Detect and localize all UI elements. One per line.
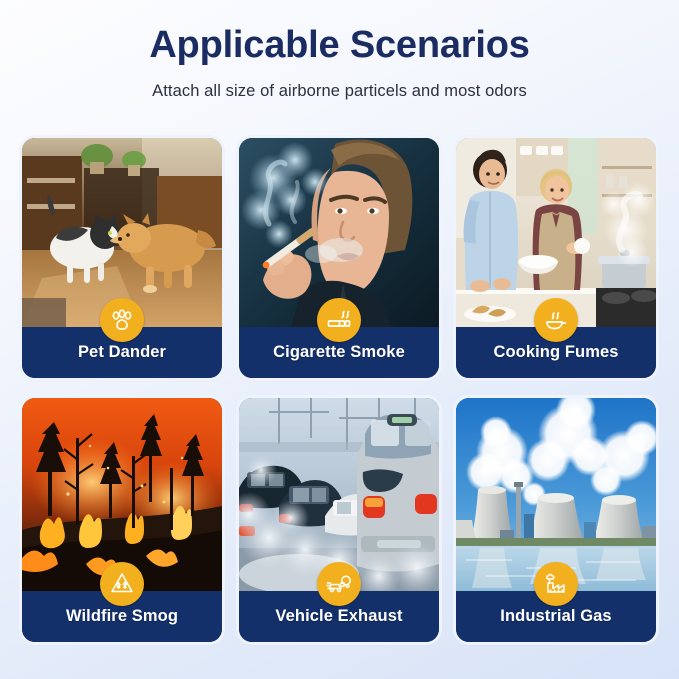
page-subtitle: Attach all size of airborne particels an… bbox=[0, 82, 679, 101]
steaming-pan-icon bbox=[534, 298, 578, 342]
scenario-card-cigarette-smoke[interactable]: Cigarette Smoke bbox=[239, 138, 439, 378]
burning-forest-icon bbox=[100, 562, 144, 606]
scenario-card-industrial-gas[interactable]: Industrial Gas bbox=[456, 398, 656, 642]
scenario-card-pet-dander[interactable]: Pet Dander bbox=[22, 138, 222, 378]
page-title: Applicable Scenarios bbox=[0, 24, 679, 68]
paw-print-icon bbox=[100, 298, 144, 342]
cigarette-icon bbox=[317, 298, 361, 342]
scenario-card-vehicle-exhaust[interactable]: Vehicle Exhaust bbox=[239, 398, 439, 642]
scenario-card-grid: Pet Dander bbox=[22, 138, 657, 642]
scenario-card-wildfire-smog[interactable]: Wildfire Smog bbox=[22, 398, 222, 642]
car-exhaust-icon bbox=[317, 562, 361, 606]
factory-icon bbox=[534, 562, 578, 606]
page-header: Applicable Scenarios Attach all size of … bbox=[0, 0, 679, 101]
scenario-card-cooking-fumes[interactable]: Cooking Fumes bbox=[456, 138, 656, 378]
applicable-scenarios-page: Applicable Scenarios Attach all size of … bbox=[0, 0, 679, 679]
